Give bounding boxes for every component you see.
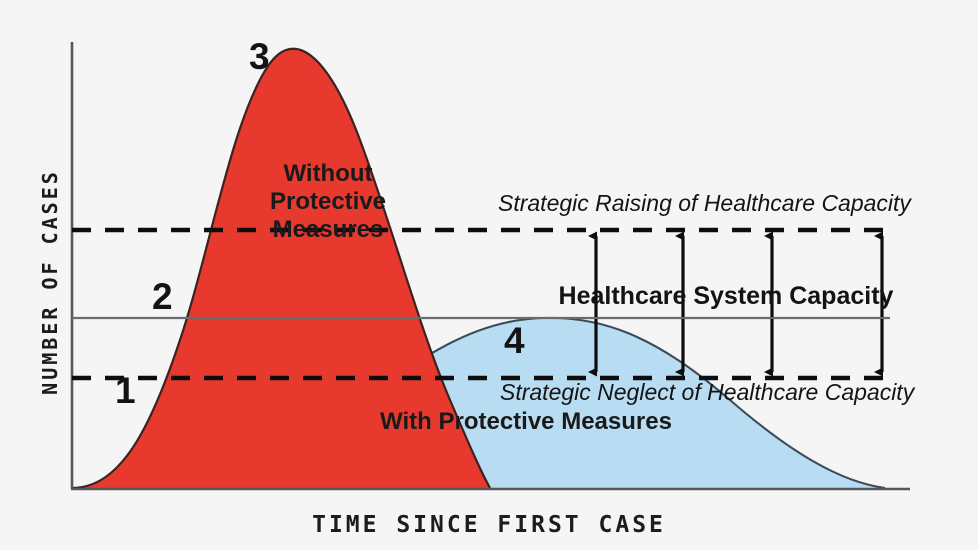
x-axis-title: TIME SINCE FIRST CASE: [0, 512, 978, 538]
strategic-neglect-annotation: Strategic Neglect of Healthcare Capacity: [500, 379, 914, 406]
healthcare-system-capacity-label: Healthcare System Capacity: [556, 282, 896, 311]
strategic-raising-annotation: Strategic Raising of Healthcare Capacity: [498, 190, 911, 217]
without-label-line-1: Without: [248, 160, 408, 188]
without-label-line-2: Protective: [248, 188, 408, 216]
without-label-line-3: Measures: [248, 216, 408, 244]
chart-plot-area: [0, 0, 978, 550]
step-number-3: 3: [249, 36, 270, 78]
y-axis-title: NUMBER OF CASES: [38, 142, 62, 422]
flatten-the-curve-chart: NUMBER OF CASES TIME SINCE FIRST CASE Wi…: [0, 0, 978, 550]
step-number-2: 2: [152, 276, 173, 318]
with-protective-measures-label: With Protective Measures: [366, 408, 686, 436]
step-number-1: 1: [115, 370, 136, 412]
step-number-4: 4: [504, 320, 525, 362]
without-protective-measures-label: Without Protective Measures: [248, 160, 408, 244]
